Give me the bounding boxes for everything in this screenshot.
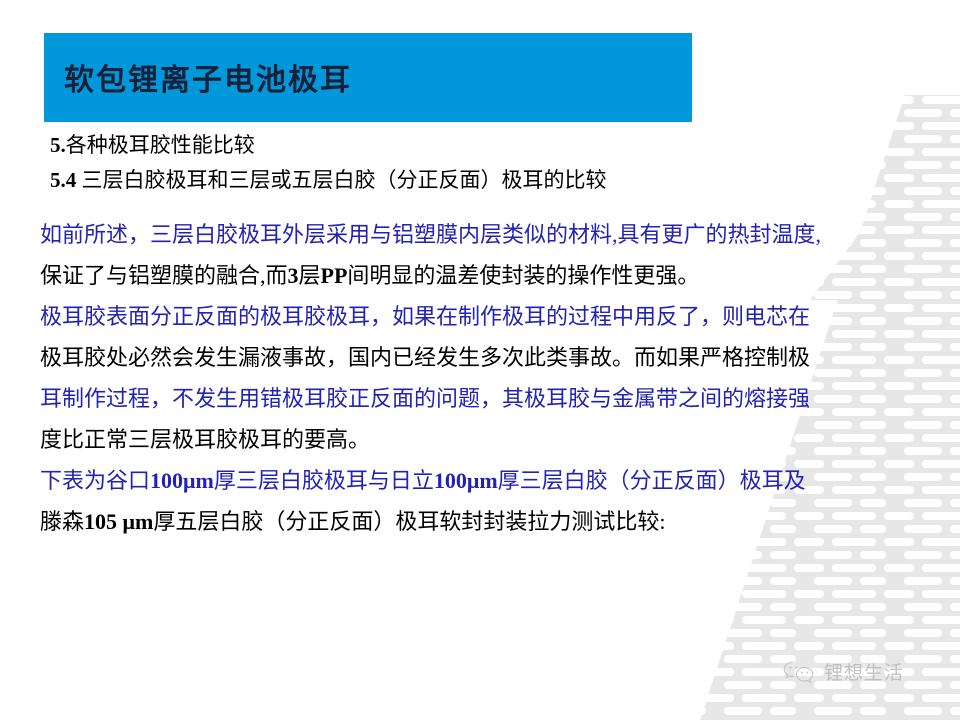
wechat-icon xyxy=(782,660,816,684)
section-heading-5-4: 5.4 三层白胶极耳和三层或五层白胶（分正反面）极耳的比较 xyxy=(50,166,607,194)
text-run: 间明显的温差使封装的操作性更强。 xyxy=(347,263,699,288)
body-text: 如前所述，三层白胶极耳外层采用与铝塑膜内层类似的材料,具有更广的热封温度,保证了… xyxy=(40,214,930,542)
text-line: 下表为谷口100μm厚三层白胶极耳与日立100μm厚三层白胶（分正反面）极耳及 xyxy=(40,460,930,501)
watermark-label: 锂想生活 xyxy=(824,658,904,685)
text-run: 层 xyxy=(299,263,321,288)
paragraph-1: 如前所述，三层白胶极耳外层采用与铝塑膜内层类似的材料,具有更广的热封温度,保证了… xyxy=(40,214,930,296)
paragraph-3: 下表为谷口100μm厚三层白胶极耳与日立100μm厚三层白胶（分正反面）极耳及滕… xyxy=(40,460,930,542)
emphasis-text: 3 xyxy=(288,263,299,288)
text-run: 厚三层白胶极耳与日立 xyxy=(214,468,434,493)
text-line: 耳制作过程，不发生用错极耳胶正反面的问题，其极耳胶与金属带之间的熔接强 xyxy=(40,378,930,419)
text-line: 如前所述，三层白胶极耳外层采用与铝塑膜内层类似的材料,具有更广的热封温度, xyxy=(40,214,930,255)
slide-canvas: 软包锂离子电池极耳 5.各种极耳胶性能比较 5.4 三层白胶极耳和三层或五层白胶… xyxy=(0,0,960,720)
text-run: 厚五层白胶（分正反面）极耳软封封装拉力测试比较: xyxy=(153,509,665,534)
title-banner: 软包锂离子电池极耳 xyxy=(44,33,692,122)
section-heading-5-line: 5.各种极耳胶性能比较 xyxy=(50,131,255,159)
text-run: 保证了与铝塑膜的融合,而 xyxy=(40,263,288,288)
emphasis-text: 100μm xyxy=(434,468,498,493)
paragraph-2: 极耳胶表面分正反面的极耳胶极耳，如果在制作极耳的过程中用反了，则电芯在极耳胶处必… xyxy=(40,296,930,460)
text-run: 厚三层白胶（分正反面）极耳及 xyxy=(498,468,806,493)
text-run: 度比正常三层极耳胶极耳的要高。 xyxy=(40,427,370,452)
section-heading-5-number: 5. xyxy=(50,133,66,157)
emphasis-text: 105 μm xyxy=(84,509,153,534)
text-run: 滕森 xyxy=(40,509,84,534)
section-heading-5-4-text: 三层白胶极耳和三层或五层白胶（分正反面）极耳的比较 xyxy=(82,168,607,192)
section-heading-5-4-line: 5.4 三层白胶极耳和三层或五层白胶（分正反面）极耳的比较 xyxy=(50,166,607,194)
text-line: 极耳胶处必然会发生漏液事故，国内已经发生多次此类事故。而如果严格控制极 xyxy=(40,337,930,378)
section-heading-5-text: 各种极耳胶性能比较 xyxy=(66,133,255,157)
text-run: 如前所述，三层白胶极耳外层采用与铝塑膜内层类似的材料,具有更广的热封温度, xyxy=(40,222,821,247)
text-line: 保证了与铝塑膜的融合,而3层PP间明显的温差使封装的操作性更强。 xyxy=(40,255,930,296)
emphasis-text: 100μm xyxy=(150,468,214,493)
watermark: 锂想生活 xyxy=(782,658,904,685)
emphasis-text: PP xyxy=(321,263,348,288)
text-line: 极耳胶表面分正反面的极耳胶极耳，如果在制作极耳的过程中用反了，则电芯在 xyxy=(40,296,930,337)
text-line: 度比正常三层极耳胶极耳的要高。 xyxy=(40,419,930,460)
text-run: 耳制作过程，不发生用错极耳胶正反面的问题，其极耳胶与金属带之间的熔接强 xyxy=(40,386,810,411)
section-heading-5: 5.各种极耳胶性能比较 xyxy=(50,131,255,159)
section-heading-5-4-number: 5.4 xyxy=(50,168,76,192)
text-run: 下表为谷口 xyxy=(40,468,150,493)
page-title: 软包锂离子电池极耳 xyxy=(64,55,352,99)
text-run: 极耳胶处必然会发生漏液事故，国内已经发生多次此类事故。而如果严格控制极 xyxy=(40,345,810,370)
text-run: 极耳胶表面分正反面的极耳胶极耳，如果在制作极耳的过程中用反了，则电芯在 xyxy=(40,304,810,329)
text-line: 滕森105 μm厚五层白胶（分正反面）极耳软封封装拉力测试比较: xyxy=(40,501,930,542)
